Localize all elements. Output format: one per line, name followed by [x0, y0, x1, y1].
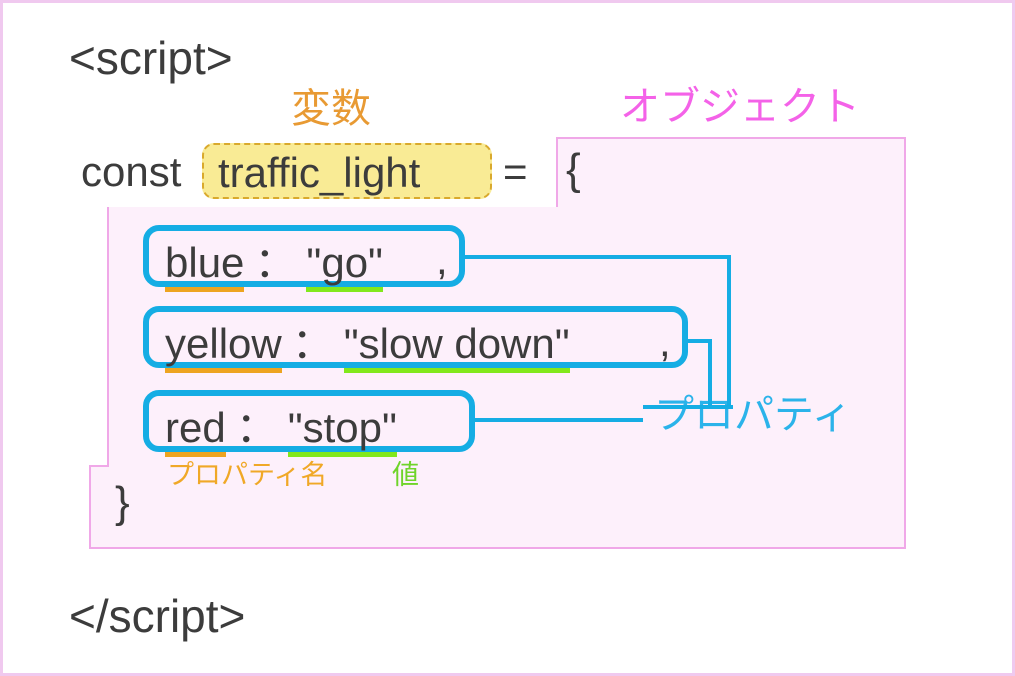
- property-colon: ：: [282, 320, 344, 367]
- property-row-text: blue："go": [165, 229, 383, 290]
- connector-line-yellow-vertical: [708, 339, 712, 407]
- property-trailing-comma: ,: [436, 239, 448, 281]
- label-variable: 変数: [291, 89, 371, 129]
- property-value: "slow down": [344, 320, 570, 373]
- property-key: yellow: [165, 320, 282, 373]
- label-value: 値: [392, 462, 419, 489]
- property-colon: ：: [244, 239, 306, 286]
- property-colon: ：: [226, 404, 288, 451]
- label-property-name: プロパティ名: [167, 462, 327, 489]
- property-key: blue: [165, 239, 244, 292]
- property-row-text: yellow："slow down": [165, 310, 570, 371]
- property-key: red: [165, 404, 226, 457]
- script-close-tag: </script>: [69, 593, 245, 639]
- connector-line-blue-horizontal: [465, 255, 731, 259]
- property-trailing-comma: ,: [659, 321, 671, 363]
- property-value: "go": [306, 239, 383, 292]
- label-object: オブジェクト: [620, 87, 860, 127]
- variable-name-text: traffic_light: [218, 149, 420, 197]
- property-value: "stop": [288, 404, 397, 457]
- property-row-box: red："stop": [143, 390, 475, 452]
- close-brace: }: [115, 481, 130, 525]
- connector-line-property-join: [643, 405, 733, 409]
- equals-sign: =: [503, 151, 528, 193]
- property-row-box: yellow："slow down": [143, 306, 688, 368]
- connector-line-red-horizontal: [475, 418, 643, 422]
- object-region-left-step: [89, 465, 109, 467]
- variable-highlight-box: traffic_light: [202, 143, 492, 199]
- object-region-top: [556, 137, 906, 209]
- const-keyword: const: [81, 151, 181, 193]
- connector-line-blue-vertical: [727, 255, 731, 407]
- property-row-box: blue："go": [143, 225, 465, 287]
- open-brace: {: [566, 148, 581, 192]
- script-open-tag: <script>: [69, 35, 233, 81]
- diagram-canvas: <script> const = { } </script> traffic_l…: [0, 0, 1015, 676]
- object-region-seam-upper: [558, 203, 904, 213]
- label-property: プロパティ: [654, 395, 852, 435]
- property-row-text: red："stop": [165, 394, 397, 455]
